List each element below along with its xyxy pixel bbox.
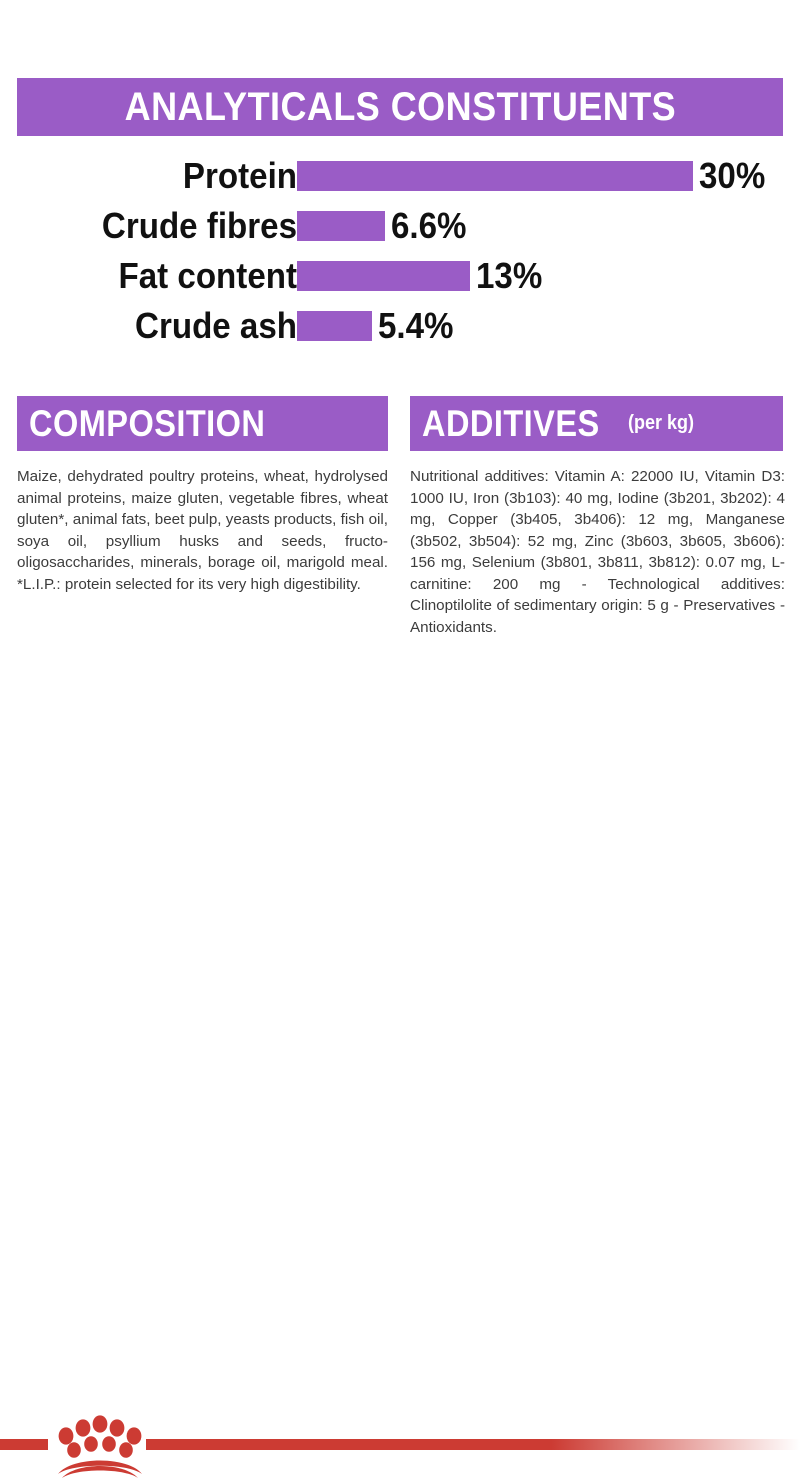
additives-subtitle: (per kg) — [628, 412, 694, 435]
chart-row-crude-fibres: Crude fibres 6.6% — [17, 202, 783, 250]
bar-track-crude-ash: 5.4% — [297, 302, 460, 350]
additives-title: ADDITIVES — [422, 403, 600, 445]
bar-label-crude-fibres: Crude fibres — [49, 205, 297, 247]
additives-body-text: Nutritional additives: Vitamin A: 22000 … — [410, 466, 785, 638]
bar-track-fat-content: 13% — [297, 252, 548, 300]
bar-fill-crude-ash — [297, 311, 372, 341]
chart-row-fat-content: Fat content 13% — [17, 252, 783, 300]
composition-title: COMPOSITION — [29, 403, 265, 445]
brand-rule-left — [0, 1439, 48, 1450]
bar-fill-crude-fibres — [297, 211, 385, 241]
chart-row-protein: Protein 30% — [17, 152, 783, 200]
bar-fill-fat-content — [297, 261, 470, 291]
bar-label-protein: Protein — [49, 155, 297, 197]
analyticals-constituents-title: ANALYTICALS CONSTITUENTS — [124, 85, 675, 130]
bar-value-fat-content: 13% — [476, 255, 542, 297]
product-label-panel: ANALYTICALS CONSTITUENTS Protein 30% Cru… — [0, 0, 800, 800]
analyticals-constituents-header: ANALYTICALS CONSTITUENTS — [17, 78, 783, 136]
brand-footer — [0, 690, 800, 800]
brand-rule-right — [146, 1439, 800, 1450]
additives-header: ADDITIVES (per kg) — [410, 396, 783, 451]
composition-body-text: Maize, dehydrated poultry proteins, whea… — [17, 466, 388, 595]
bar-label-crude-ash: Crude ash — [49, 305, 297, 347]
bar-fill-protein — [297, 161, 693, 191]
bar-label-fat-content: Fat content — [49, 255, 297, 297]
composition-header: COMPOSITION — [17, 396, 388, 451]
chart-row-crude-ash: Crude ash 5.4% — [17, 302, 783, 350]
bar-value-protein: 30% — [699, 155, 765, 197]
bar-track-crude-fibres: 6.6% — [297, 202, 473, 250]
bar-value-crude-fibres: 6.6% — [391, 205, 466, 247]
bar-track-protein: 30% — [297, 152, 771, 200]
royal-canin-crown-paw-logo — [52, 1406, 148, 1478]
bar-value-crude-ash: 5.4% — [378, 305, 453, 347]
analyticals-bar-chart: Protein 30% Crude fibres 6.6% Fat conten… — [17, 152, 783, 352]
